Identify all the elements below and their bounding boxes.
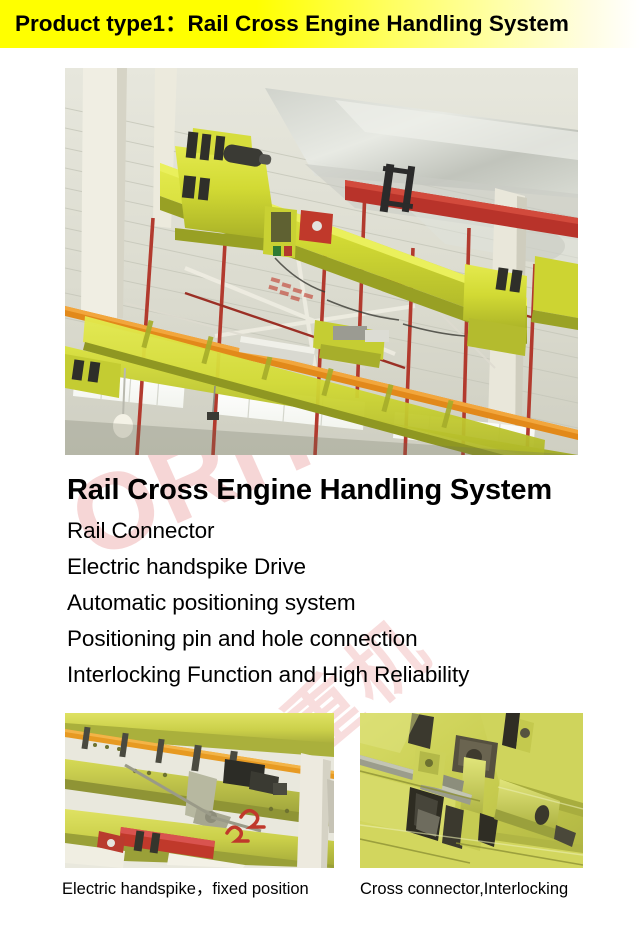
thumbnail-left-artwork: [65, 713, 334, 868]
thumbnail-electric-handspike: [65, 713, 334, 868]
thumbnail-cross-connector: [360, 713, 583, 868]
header-banner: Product type1：Rail Cross Engine Handling…: [0, 0, 640, 48]
thumbnail-right-artwork: [360, 713, 583, 868]
feature-line-1: Rail Connector: [67, 513, 627, 549]
product-heading: Rail Cross Engine Handling System: [67, 472, 627, 508]
feature-line-4: Positioning pin and hole connection: [67, 621, 627, 657]
main-photo-artwork: [65, 68, 578, 455]
feature-line-5: Interlocking Function and High Reliabili…: [67, 657, 627, 693]
feature-line-2: Electric handspike Drive: [67, 549, 627, 585]
caption-cross-connector: Cross connector,Interlocking: [360, 879, 568, 899]
product-description-block: Rail Cross Engine Handling System Rail C…: [67, 472, 627, 693]
page-title: Product type1：Rail Cross Engine Handling…: [15, 9, 569, 39]
feature-line-3: Automatic positioning system: [67, 585, 627, 621]
caption-electric-handspike: Electric handspike，fixed position: [62, 879, 309, 899]
main-product-photo: [65, 68, 578, 455]
